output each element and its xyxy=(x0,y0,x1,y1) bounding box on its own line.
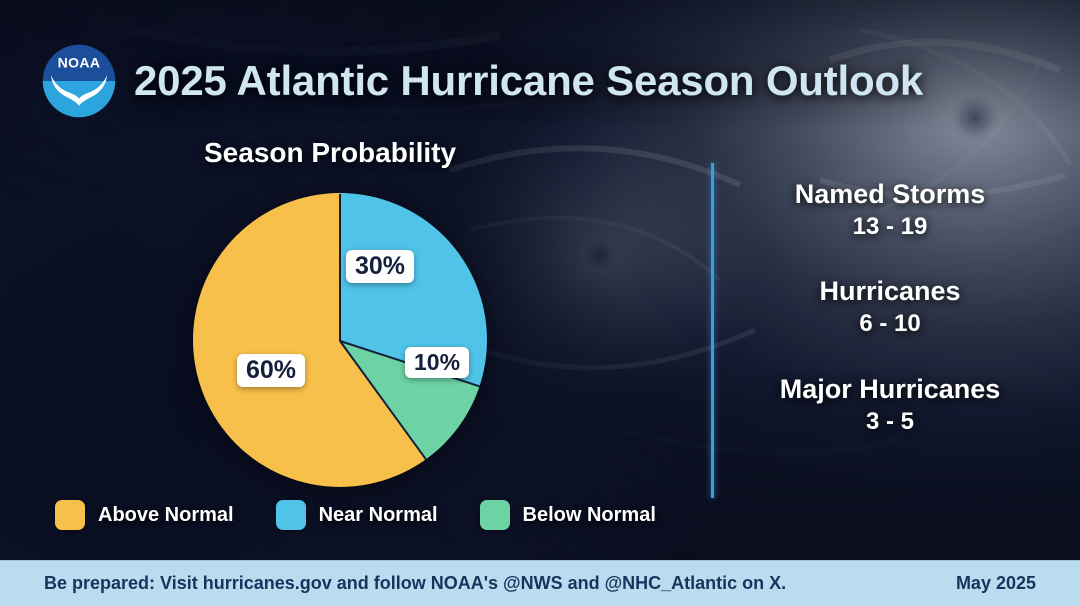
stat-label: Hurricanes xyxy=(735,275,1045,308)
stat-value: 13 - 19 xyxy=(735,211,1045,243)
stat-value: 3 - 5 xyxy=(735,406,1045,438)
pie-disc xyxy=(193,193,487,487)
pie-label-below-normal: 10% xyxy=(405,347,469,378)
chart-title: Season Probability xyxy=(204,137,456,169)
legend-swatch-icon xyxy=(276,500,306,530)
footer-bar: Be prepared: Visit hurricanes.gov and fo… xyxy=(0,560,1080,606)
stat-value: 6 - 10 xyxy=(735,308,1045,340)
pie-label-near-normal: 30% xyxy=(346,250,414,283)
legend-swatch-icon xyxy=(55,500,85,530)
noaa-logo-text: NOAA xyxy=(58,55,101,71)
season-probability-pie-chart: 30% 60% 10% xyxy=(193,193,487,487)
chart-legend: Above Normal Near Normal Below Normal xyxy=(55,500,656,530)
header: NOAA 2025 Atlantic Hurricane Season Outl… xyxy=(42,44,923,118)
hurricane-outlook-infographic: NOAA 2025 Atlantic Hurricane Season Outl… xyxy=(0,0,1080,606)
stat-label: Named Storms xyxy=(735,178,1045,211)
stat-named-storms: Named Storms 13 - 19 xyxy=(735,178,1045,243)
forecast-stats-panel: Named Storms 13 - 19 Hurricanes 6 - 10 M… xyxy=(735,178,1045,438)
page-title: 2025 Atlantic Hurricane Season Outlook xyxy=(134,57,923,105)
stat-hurricanes: Hurricanes 6 - 10 xyxy=(735,275,1045,340)
legend-label: Below Normal xyxy=(523,504,656,527)
legend-label: Near Normal xyxy=(319,504,438,527)
pie-label-above-normal: 60% xyxy=(237,354,305,387)
legend-item-near-normal: Near Normal xyxy=(276,500,438,530)
legend-label: Above Normal xyxy=(98,504,234,527)
vertical-divider xyxy=(711,163,714,498)
legend-item-below-normal: Below Normal xyxy=(480,500,656,530)
stat-major-hurricanes: Major Hurricanes 3 - 5 xyxy=(735,373,1045,438)
legend-item-above-normal: Above Normal xyxy=(55,500,234,530)
stat-label: Major Hurricanes xyxy=(735,373,1045,406)
footer-date: May 2025 xyxy=(956,573,1036,594)
legend-swatch-icon xyxy=(480,500,510,530)
noaa-logo-icon: NOAA xyxy=(42,44,116,118)
footer-message: Be prepared: Visit hurricanes.gov and fo… xyxy=(44,573,786,594)
